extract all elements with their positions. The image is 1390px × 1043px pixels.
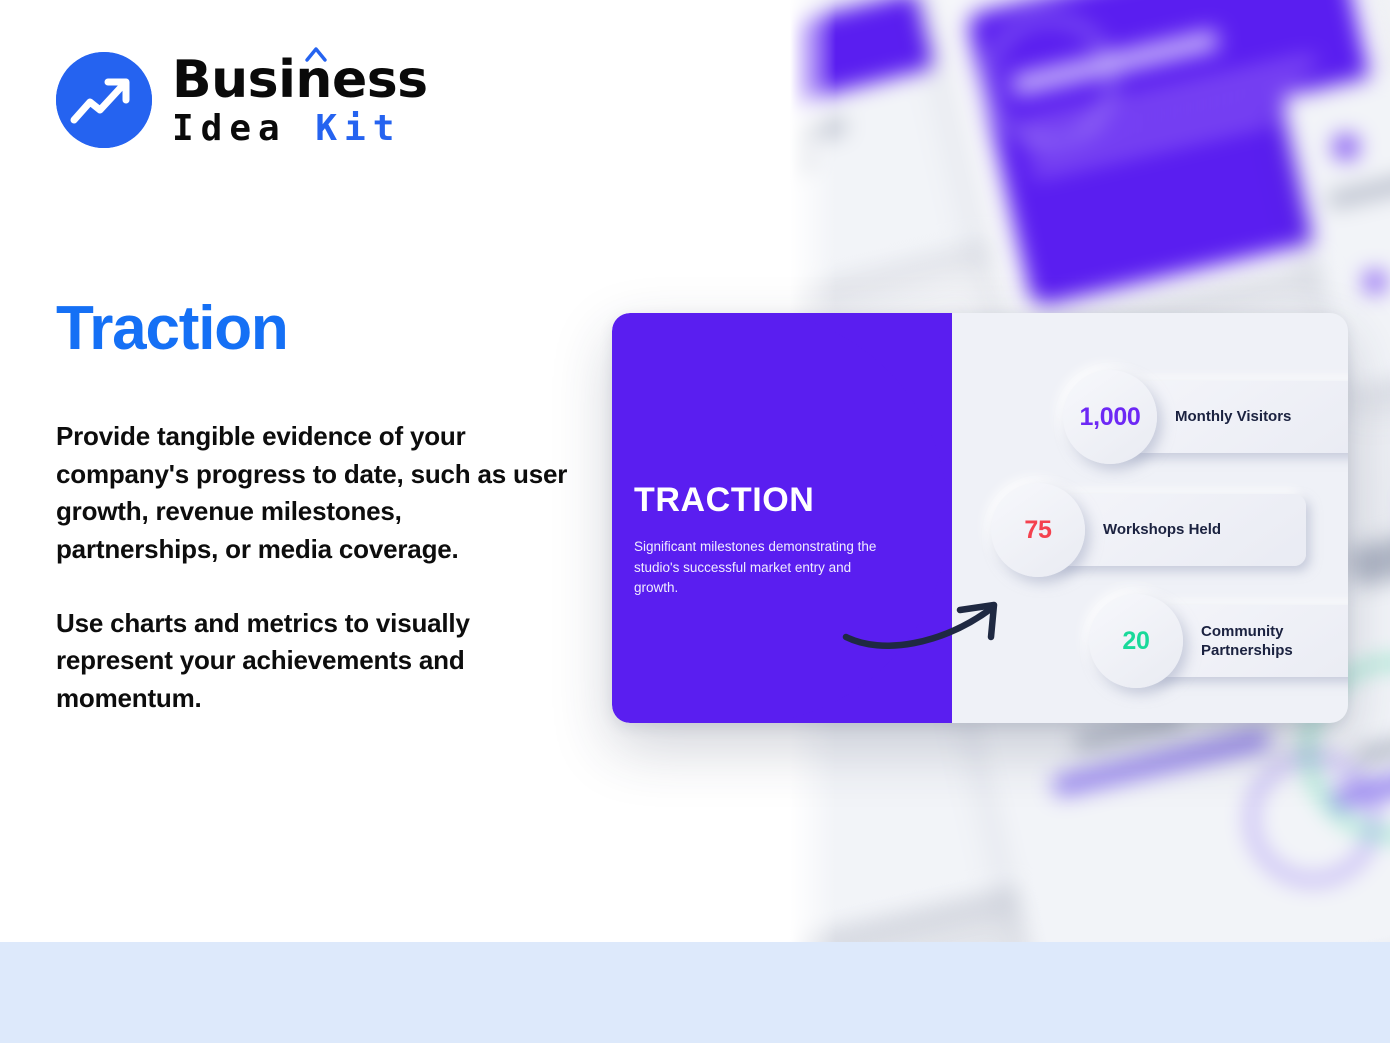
brand-name-secondary: Idea Kit: [172, 110, 428, 148]
stat-row[interactable]: 1,000 Monthly Visitors: [1063, 370, 1348, 464]
stat-value: 20: [1122, 627, 1149, 656]
stat-value: 75: [1024, 516, 1051, 545]
stat-label: Workshops Held: [1103, 521, 1221, 540]
brand-name-primary: Business: [172, 54, 428, 106]
slide-template-page: Business Idea Kit Traction Provide tangi…: [0, 0, 1390, 1043]
stat-label: Community Partnerships: [1201, 623, 1331, 661]
slide-preview-card[interactable]: TRACTION Significant milestones demonstr…: [612, 313, 1348, 723]
brand-wordmark: Business Idea Kit: [172, 52, 428, 148]
curved-growth-arrow-icon: [842, 593, 1012, 663]
stat-row[interactable]: 75 Workshops Held: [991, 483, 1276, 577]
growth-chart-arrow-icon: [56, 52, 152, 148]
page-title: Traction: [56, 296, 288, 361]
description-paragraph-2: Use charts and metrics to visually repre…: [56, 605, 568, 718]
stat-circle-background: 1,000: [1063, 370, 1157, 464]
background-ring: [985, 15, 1115, 145]
background-text-block: [1327, 168, 1390, 209]
background-text-block: [1348, 515, 1390, 588]
slide-subheading: Significant milestones demonstrating the…: [634, 537, 896, 599]
stat-label: Monthly Visitors: [1175, 408, 1291, 427]
background-dot: [1362, 269, 1388, 295]
stat-value: 1,000: [1079, 403, 1140, 432]
background-dot: [1330, 131, 1361, 162]
stat-row[interactable]: 20 Community Partnerships: [1089, 594, 1348, 688]
stat-circle-background: 20: [1089, 594, 1183, 688]
brand-name-kit: Kit: [315, 108, 401, 149]
stat-circle-background: 75: [991, 483, 1085, 577]
slide-heading: TRACTION: [634, 483, 814, 517]
brand-name-idea: Idea: [172, 108, 315, 149]
description-text: Provide tangible evidence of your compan…: [56, 418, 568, 718]
bottom-accent-bar: [0, 942, 1390, 1043]
brand-logo: Business Idea Kit: [56, 52, 428, 148]
description-paragraph-1: Provide tangible evidence of your compan…: [56, 418, 568, 569]
